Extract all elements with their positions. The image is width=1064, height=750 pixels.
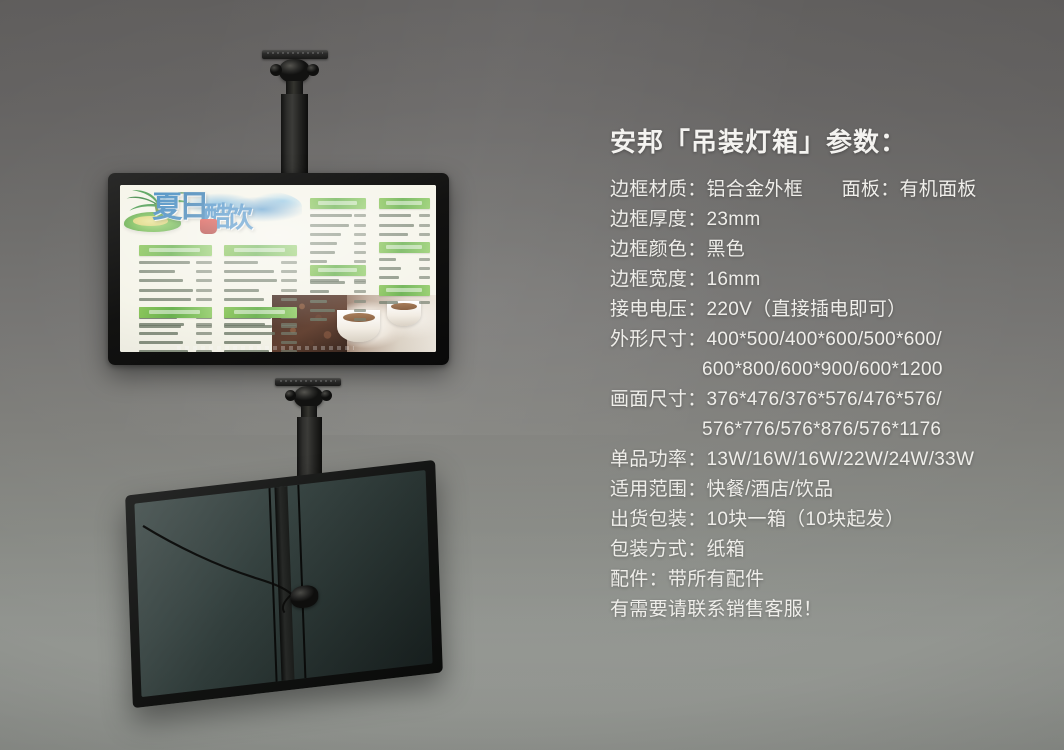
spec-item-contact-note: 有需要请联系销售客服！	[610, 595, 1050, 625]
ball-joint-lower	[294, 386, 323, 408]
section-header-banner	[139, 307, 212, 318]
lightbox-rear-panel-face	[134, 470, 432, 697]
section-header-banner	[310, 265, 367, 276]
spec-item-accessories: 配件：带所有配件	[610, 565, 1050, 595]
menu-rows	[379, 256, 430, 281]
section-header-banner	[224, 245, 297, 256]
spec-list: 边框材质：铝合金外框 面板：有机面板 边框厚度：23mm 边框颜色：黑色 边框宽…	[610, 175, 1050, 625]
menu-section-right-4	[310, 265, 367, 325]
lightbox-rear-frame	[125, 460, 443, 708]
section-header-banner	[310, 198, 367, 209]
ball-joint-upper	[279, 59, 310, 83]
section-header-banner	[139, 245, 212, 256]
menu-title-char-1: 夏	[152, 193, 182, 223]
menu-section-right-3	[379, 242, 430, 284]
menu-lightbox-front: 夏 日 酷 饮	[108, 173, 449, 365]
drop-pole-upper	[281, 94, 308, 180]
spec-title: 安邦「吊装灯箱」参数：	[610, 122, 1050, 159]
spec-item-frame-thickness: 边框厚度：23mm	[610, 205, 1050, 235]
menu-section-right-5	[379, 285, 430, 308]
lightbox-rear-view	[128, 478, 440, 690]
menu-rows	[310, 279, 367, 323]
spec-item-frame-material: 边框材质：铝合金外框 面板：有机面板	[610, 175, 1050, 205]
spec-item-frame-width: 边框宽度：16mm	[610, 265, 1050, 295]
red-cup-illustration	[200, 219, 217, 234]
menu-artwork: 夏 日 酷 饮	[120, 185, 436, 352]
tilt-knob-left-upper	[270, 64, 282, 76]
menu-rows	[379, 212, 430, 237]
tilt-knob-right-upper	[307, 64, 319, 76]
ceiling-plate-upper	[262, 50, 328, 59]
power-cable	[134, 470, 432, 697]
menu-title-char-4: 饮	[226, 205, 253, 232]
ceiling-plate-lower	[275, 378, 341, 386]
menu-hero-banner: 夏 日 酷 饮	[120, 185, 310, 242]
ceiling-mount-upper	[255, 50, 335, 180]
spec-item-display-size-cont: 576*776/576*876/576*1176	[610, 415, 1050, 445]
section-header-banner	[224, 307, 297, 318]
menu-rows	[379, 299, 430, 306]
section-header-banner	[379, 242, 430, 253]
spec-item-frame-color: 边框颜色：黑色	[610, 235, 1050, 265]
lightbox-acrylic-face: 夏 日 酷 饮	[120, 185, 436, 352]
menu-watermark	[177, 346, 354, 350]
product-photo-scene: 夏 日 酷 饮	[0, 0, 1064, 750]
spec-item-outer-size-cont: 600*800/600*900/600*1200	[610, 355, 1050, 385]
spec-panel: 安邦「吊装灯箱」参数： 边框材质：铝合金外框 面板：有机面板 边框厚度：23mm…	[610, 122, 1050, 625]
spec-item-voltage: 接电电压：220V（直接插电即可）	[610, 295, 1050, 325]
tilt-knob-left-lower	[285, 390, 296, 401]
spec-item-packaging: 包装方式：纸箱	[610, 535, 1050, 565]
spec-item-applications: 适用范围：快餐/酒店/饮品	[610, 475, 1050, 505]
tilt-knob-right-lower	[321, 390, 332, 401]
section-header-banner	[379, 198, 430, 209]
spec-item-shipping-pack: 出货包装：10块一箱（10块起发）	[610, 505, 1050, 535]
menu-section-right-2	[379, 198, 430, 240]
section-header-banner	[379, 285, 430, 296]
spec-item-display-size: 画面尺寸：376*476/376*576/476*576/	[610, 385, 1050, 415]
spec-item-outer-size: 外形尺寸：400*500/400*600/500*600/	[610, 325, 1050, 355]
spec-item-power: 单品功率：13W/16W/16W/22W/24W/33W	[610, 445, 1050, 475]
